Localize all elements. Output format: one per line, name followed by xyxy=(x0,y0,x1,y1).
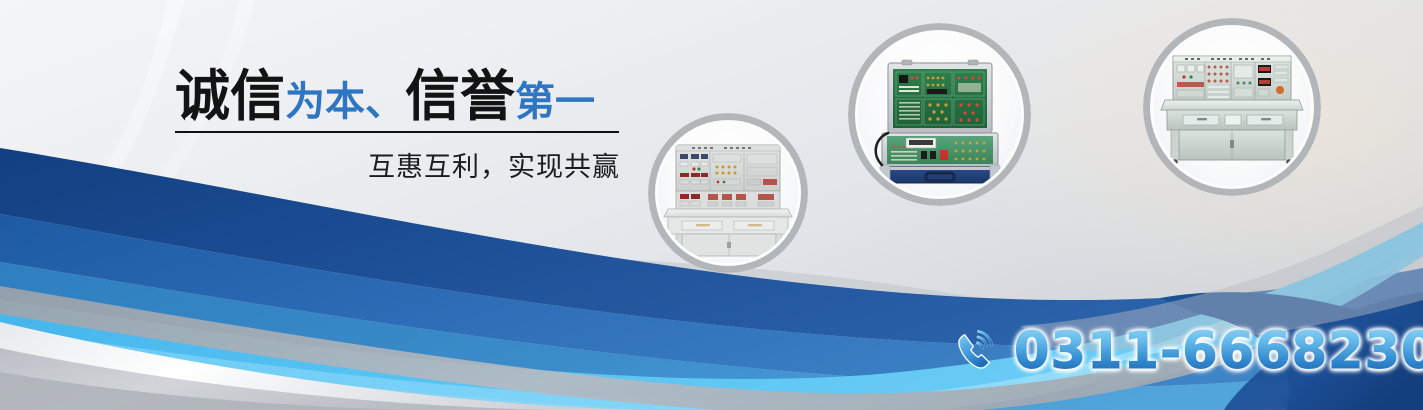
promo-banner: 诚信为本、信誉第一 互惠互利，实现共赢 xyxy=(0,0,1423,410)
circle-accent-ring xyxy=(1143,18,1321,196)
headline-part4: 第一 xyxy=(515,80,595,124)
product-circle-workbench[interactable] xyxy=(648,113,808,273)
circle-accent-ring xyxy=(848,23,1031,206)
phone-ringing-icon xyxy=(952,328,1000,376)
headline-part2: 为本、 xyxy=(285,80,405,124)
circle-accent-ring xyxy=(648,113,808,273)
product-circle-training-case[interactable] xyxy=(848,23,1031,206)
headline-divider xyxy=(175,131,619,133)
headline: 诚信为本、信誉第一 xyxy=(175,68,620,124)
product-circle-test-bench[interactable] xyxy=(1143,18,1321,196)
headline-part1: 诚信 xyxy=(175,65,285,127)
headline-part3: 信誉 xyxy=(405,65,515,127)
phone-number[interactable]: 0311-66682303 xyxy=(1014,326,1423,377)
contact-block[interactable]: 0311-66682303 xyxy=(952,326,1423,377)
slogan-block: 诚信为本、信誉第一 互惠互利，实现共赢 xyxy=(175,68,620,184)
subline: 互惠互利，实现共赢 xyxy=(175,145,620,184)
